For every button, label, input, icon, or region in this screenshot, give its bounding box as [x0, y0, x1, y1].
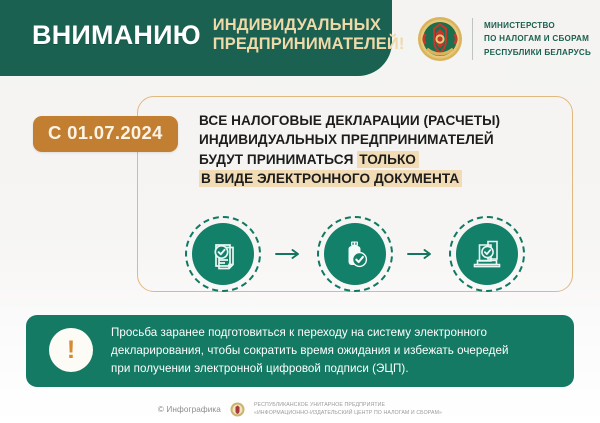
arrow-right-icon — [272, 244, 306, 264]
usb-key-check-icon — [317, 216, 393, 292]
footer-copyright: © Инфографика — [158, 405, 221, 414]
header-title-group: ВНИМАНИЮ ИНДИВИДУАЛЬНЫХ ПРЕДПРИНИМАТЕЛЕЙ… — [32, 16, 382, 54]
bubble-exclamation-mark: ! — [49, 328, 93, 372]
ministry-line-2: ПО НАЛОГАМ И СБОРАМ — [484, 32, 591, 45]
headline-line-2: ИНДИВИДУАЛЬНЫХ ПРЕДПРИНИМАТЕЛЕЙ — [199, 130, 571, 149]
notice-line-3: при получении электронной цифровой подпи… — [111, 360, 509, 378]
coat-of-arms-emblem-icon — [417, 16, 463, 62]
header-attention-word: ВНИМАНИЮ — [32, 22, 201, 49]
ministry-text-group: МИНИСТЕРСТВО ПО НАЛОГАМ И СБОРАМ РЕСПУБЛ… — [484, 19, 591, 58]
ministry-line-1: МИНИСТЕРСТВО — [484, 19, 591, 32]
process-flow — [185, 216, 525, 292]
ministry-lockup: МИНИСТЕРСТВО ПО НАЛОГАМ И СБОРАМ РЕСПУБЛ… — [417, 16, 591, 62]
footer-publisher-group: РЕСПУБЛИКАНСКОЕ УНИТАРНОЕ ПРЕДПРИЯТИЕ «И… — [254, 402, 442, 417]
notice-line-1: Просьба заранее подготовиться к переходу… — [111, 324, 509, 342]
arrow-right-icon — [404, 244, 438, 264]
headline-line-4: В ВИДЕ ЭЛЕКТРОННОГО ДОКУМЕНТА — [199, 169, 571, 188]
header-banner: ВНИМАНИЮ ИНДИВИДУАЛЬНЫХ ПРЕДПРИНИМАТЕЛЕЙ… — [0, 0, 392, 76]
bottom-notice-banner: ! Просьба заранее подготовиться к перехо… — [26, 315, 574, 387]
laptop-document-check-icon — [449, 216, 525, 292]
effective-date-badge: С 01.07.2024 — [33, 116, 178, 152]
flow-step-documents — [185, 216, 261, 292]
ministry-divider — [472, 18, 473, 60]
publisher-seal-icon — [230, 402, 245, 417]
flow-step-laptop-document — [449, 216, 525, 292]
header-subject-group: ИНДИВИДУАЛЬНЫХ ПРЕДПРИНИМАТЕЛЕЙ! — [213, 16, 405, 54]
notice-text-group: Просьба заранее подготовиться к переходу… — [111, 324, 527, 379]
notice-line-2: декларирования, чтобы сократить время ож… — [111, 342, 509, 360]
headline-line-1: ВСЕ НАЛОГОВЫЕ ДЕКЛАРАЦИИ (РАСЧЕТЫ) — [199, 111, 571, 130]
ministry-line-3: РЕСПУБЛИКИ БЕЛАРУСЬ — [484, 46, 591, 59]
footer-publisher-line-2: «ИНФОРМАЦИОННО-ИЗДАТЕЛЬСКИЙ ЦЕНТР ПО НАЛ… — [254, 410, 442, 418]
headline-block: ВСЕ НАЛОГОВЫЕ ДЕКЛАРАЦИИ (РАСЧЕТЫ) ИНДИВ… — [199, 111, 571, 189]
headline-line-3-highlight: ТОЛЬКО — [357, 151, 419, 168]
exclamation-bubble-icon: ! — [49, 328, 95, 374]
footer-publisher-line-1: РЕСПУБЛИКАНСКОЕ УНИТАРНОЕ ПРЕДПРИЯТИЕ — [254, 402, 442, 410]
infographic-poster: ВНИМАНИЮ ИНДИВИДУАЛЬНЫХ ПРЕДПРИНИМАТЕЛЕЙ… — [0, 0, 600, 423]
headline-line-3-plain: БУДУТ ПРИНИМАТЬСЯ — [199, 152, 357, 167]
documents-check-icon — [185, 216, 261, 292]
header-subject-line-1: ИНДИВИДУАЛЬНЫХ — [213, 16, 405, 35]
footer-credits: © Инфографика РЕСПУБЛИКАНСКОЕ УНИТАРНОЕ … — [0, 396, 600, 423]
headline-line-4-highlight: В ВИДЕ ЭЛЕКТРОННОГО ДОКУМЕНТА — [199, 170, 462, 187]
header-subject-line-2: ПРЕДПРИНИМАТЕЛЕЙ! — [213, 35, 405, 54]
headline-line-3: БУДУТ ПРИНИМАТЬСЯ ТОЛЬКО — [199, 150, 571, 169]
flow-step-usb-key — [317, 216, 393, 292]
